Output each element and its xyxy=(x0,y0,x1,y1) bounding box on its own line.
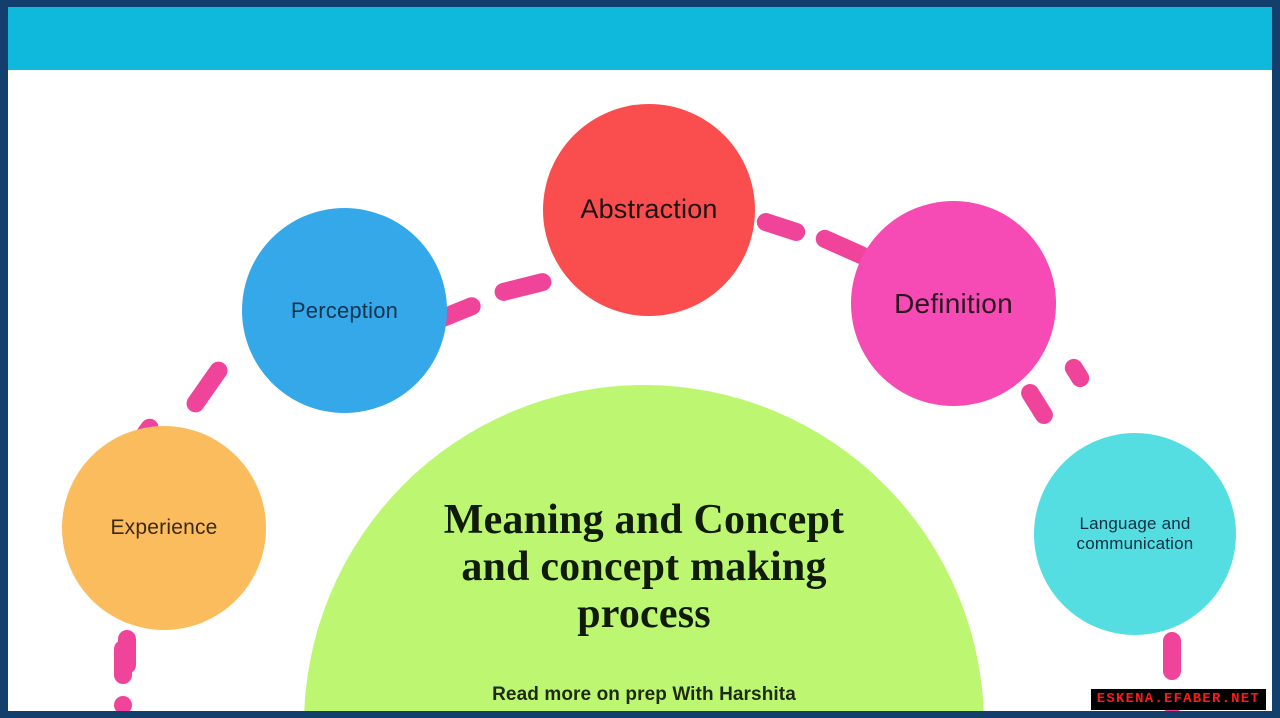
center-title: Meaning and Concept and concept making p… xyxy=(364,497,924,638)
node-definition[interactable]: Definition xyxy=(851,201,1056,406)
center-title-line-2: and concept making xyxy=(461,544,826,590)
diagram-canvas: Meaning and Concept and concept making p… xyxy=(8,70,1272,711)
center-text-block: Meaning and Concept and concept making p… xyxy=(364,385,924,706)
screenshot-frame: Meaning and Concept and concept making p… xyxy=(0,0,1280,718)
header-band xyxy=(8,7,1272,70)
node-language[interactable]: Language and communication xyxy=(1034,433,1236,635)
center-title-line-3: process xyxy=(577,591,711,637)
center-circle: Meaning and Concept and concept making p… xyxy=(304,385,984,711)
node-abstraction[interactable]: Abstraction xyxy=(543,104,755,316)
connector-dash-definition-language-1 xyxy=(1018,381,1057,428)
center-subtitle: Read more on prep With Harshita xyxy=(364,684,924,706)
connector-dash-perception-abstraction-2 xyxy=(493,271,554,302)
connector-dash-experience-perception-3 xyxy=(183,358,231,416)
node-perception-label: Perception xyxy=(285,298,404,324)
connector-dash-experience-tail-2 xyxy=(114,696,132,711)
node-abstraction-label: Abstraction xyxy=(574,194,723,226)
connector-dash-definition-language-2 xyxy=(1061,356,1092,391)
node-language-label: Language and communication xyxy=(1034,514,1236,554)
node-definition-label: Definition xyxy=(888,287,1019,320)
center-title-line-1: Meaning and Concept xyxy=(444,497,845,543)
node-perception[interactable]: Perception xyxy=(242,208,447,413)
node-experience-label: Experience xyxy=(104,516,223,541)
node-experience[interactable]: Experience xyxy=(62,426,266,630)
connector-dash-abstraction-definition-1 xyxy=(754,211,807,244)
connector-dash-language-tail-1 xyxy=(1163,632,1181,680)
watermark: ESKENA.EFABER.NET xyxy=(1091,689,1266,710)
connector-dash-experience-tail-1 xyxy=(114,640,132,684)
